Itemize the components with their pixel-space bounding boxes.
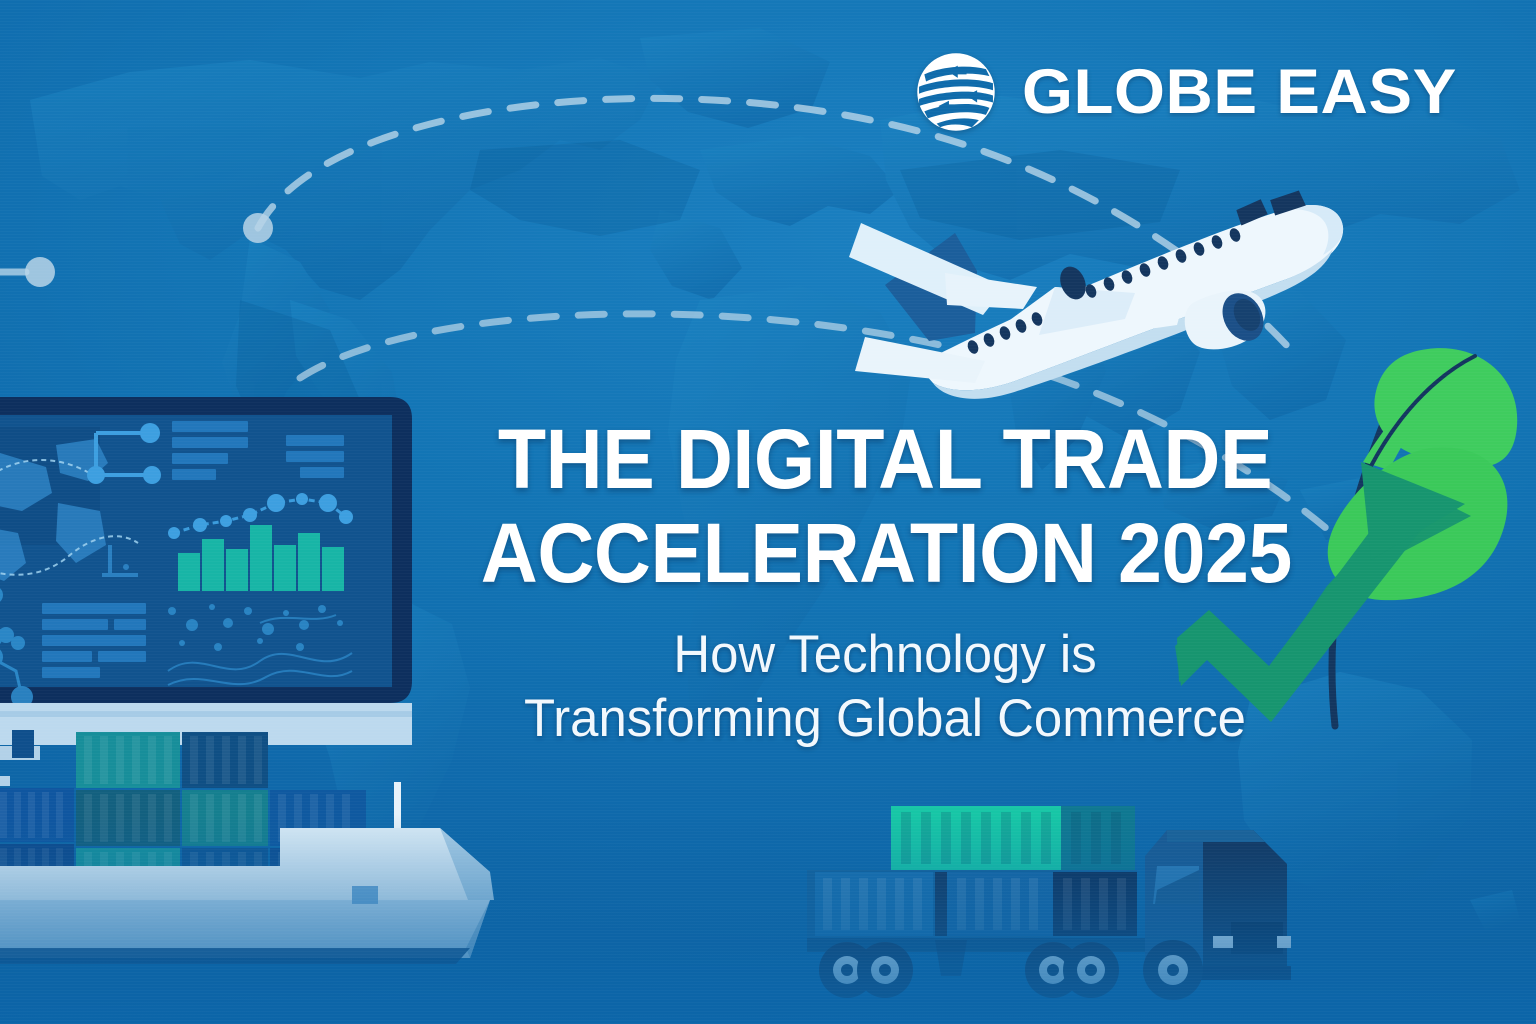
poster-canvas: GLOBE EASY THE DIGITAL TRADE ACCELERATIO… <box>0 0 1536 1024</box>
page-subtitle-line-2: Transforming Global Commerce <box>472 687 1298 752</box>
brand-logo[interactable]: GLOBE EASY <box>912 48 1440 136</box>
brand-name: GLOBE EASY <box>1022 61 1457 124</box>
dashboard-monitor <box>0 385 460 745</box>
container-ship <box>0 700 530 1024</box>
striped-globe-icon <box>912 48 1000 136</box>
page-subtitle: How Technology is Transforming Global Co… <box>472 623 1298 752</box>
headline-block: THE DIGITAL TRADE ACCELERATION 2025 How … <box>455 418 1315 752</box>
page-title-line-1: THE DIGITAL TRADE <box>481 418 1289 500</box>
page-title-line-2: ACCELERATION 2025 <box>481 512 1289 594</box>
container-truck <box>795 780 1325 1024</box>
page-subtitle-line-1: How Technology is <box>472 623 1298 688</box>
